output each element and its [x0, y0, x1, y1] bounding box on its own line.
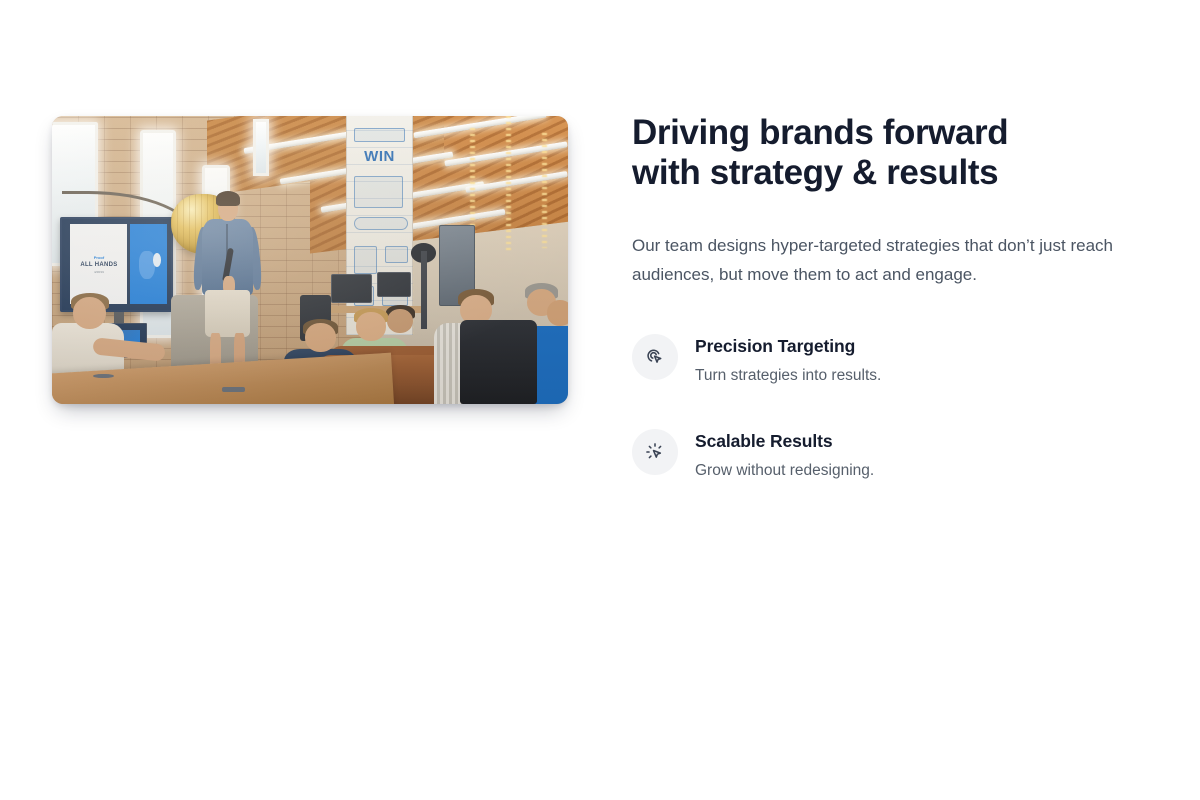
table-object — [222, 387, 245, 392]
section-headline: Driving brands forward with strategy & r… — [632, 113, 1152, 193]
string-lights — [506, 116, 511, 254]
feature-title: Scalable Results — [695, 430, 874, 452]
column-sketch — [354, 217, 408, 230]
slide-dot — [153, 253, 161, 267]
media-column: WIN Proof ALL HANDS 4/28/ — [52, 116, 568, 404]
section-subcopy: Our team designs hyper-targeted strategi… — [632, 231, 1148, 289]
audience-head — [356, 312, 386, 341]
hero-image: WIN Proof ALL HANDS 4/28/ — [52, 116, 568, 404]
audience-head — [305, 323, 336, 352]
column-sketch — [354, 176, 403, 208]
column-sketch — [385, 246, 408, 263]
feature-text: Scalable Results Grow without redesignin… — [695, 428, 874, 481]
feature-description: Grow without redesigning. — [695, 460, 874, 481]
presenter-hair — [216, 191, 240, 207]
slide-subtitle: 4/28/19 — [94, 270, 104, 274]
audience-head — [547, 300, 568, 326]
slide-title: ALL HANDS — [80, 262, 117, 268]
win-sign: WIN — [364, 148, 395, 165]
feature-list: Precision Targeting Turn strategies into… — [632, 333, 1152, 481]
hero-section: WIN Proof ALL HANDS 4/28/ — [0, 0, 1200, 800]
speaker-stand — [421, 251, 427, 329]
window — [253, 119, 268, 177]
feature-text: Precision Targeting Turn strategies into… — [695, 333, 881, 386]
string-lights — [542, 133, 547, 248]
cursor-rays-icon — [632, 429, 678, 475]
cursor-click-icon — [632, 334, 678, 380]
content-column: Driving brands forward with strategy & r… — [632, 113, 1152, 481]
slide-eyebrow: Proof — [94, 255, 104, 260]
feature-item-precision-targeting[interactable]: Precision Targeting Turn strategies into… — [632, 333, 1152, 386]
desk-monitor — [377, 272, 411, 298]
feature-item-scalable-results[interactable]: Scalable Results Grow without redesignin… — [632, 428, 1152, 481]
desk-monitor — [331, 274, 372, 303]
feature-description: Turn strategies into results. — [695, 365, 881, 386]
feature-title: Precision Targeting — [695, 335, 881, 357]
hero-image-frame: WIN Proof ALL HANDS 4/28/ — [52, 116, 568, 404]
column-sketch — [354, 246, 377, 275]
audience-head — [73, 297, 107, 329]
presenter-shorts — [205, 290, 251, 336]
column-sketch — [354, 128, 406, 142]
office-chair — [460, 320, 537, 404]
